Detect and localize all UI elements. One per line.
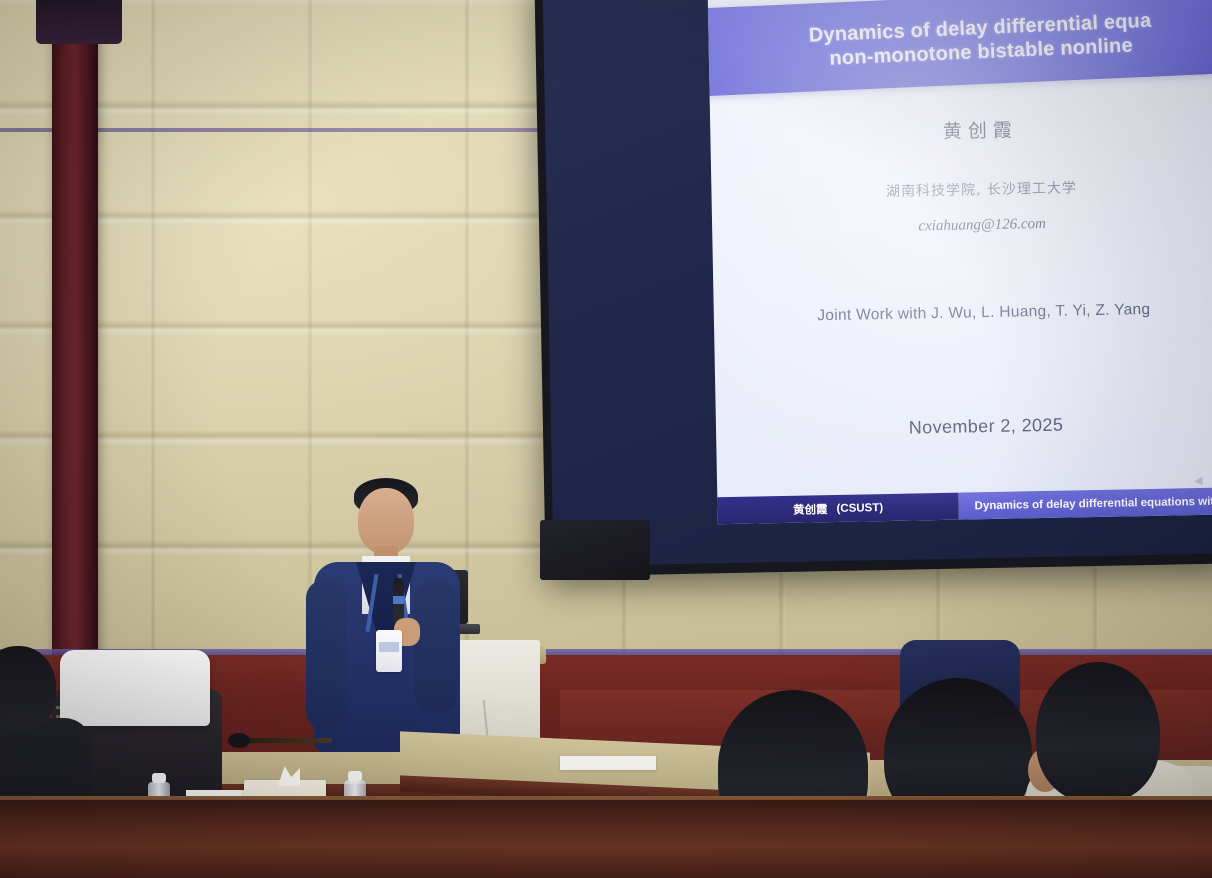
- table-microphone-arm: [236, 738, 332, 743]
- presentation-photo-scene: Dynamics of delay differential equa non-…: [0, 0, 1212, 878]
- presenter-left-arm: [306, 580, 346, 730]
- slide-footer-right: Dynamics of delay differential equations…: [958, 487, 1212, 520]
- slide-footer-bar: 黄创霞 (CSUST) Dynamics of delay differenti…: [717, 487, 1212, 524]
- wall-monitor: [540, 520, 650, 580]
- slide-date: November 2, 2025: [716, 411, 1212, 442]
- prev-slide-icon[interactable]: ◀: [1194, 475, 1203, 486]
- table-paper-1: [560, 756, 656, 770]
- presenter-right-arm: [414, 582, 458, 712]
- slide-footer-left: 黄创霞 (CSUST): [717, 493, 959, 525]
- projector-screen-surface: Dynamics of delay differential equa non-…: [542, 0, 1212, 566]
- footer-institution: (CSUST): [836, 502, 883, 515]
- projector-screen-frame: Dynamics of delay differential equa non-…: [534, 0, 1212, 577]
- footer-author: 黄创霞: [793, 501, 828, 518]
- footer-title: Dynamics of delay differential equations…: [974, 495, 1212, 512]
- slide-affiliation: 湖南科技学院, 长沙理工大学: [711, 174, 1212, 204]
- presenter-head: [358, 488, 414, 554]
- attendee-left-head: [0, 646, 56, 730]
- table-microphone-head: [228, 733, 250, 748]
- slide-joint-work: Joint Work with J. Wu, L. Huang, T. Yi, …: [714, 299, 1212, 327]
- slide-navigation-controls[interactable]: ◀ ▶: [1194, 474, 1212, 487]
- column-mount-bracket: [36, 0, 122, 44]
- presenter-badge-text: [379, 642, 399, 652]
- wooden-column: [52, 0, 98, 700]
- slide-author-name: 黄创霞: [710, 111, 1212, 148]
- projected-slide: Dynamics of delay differential equa non-…: [707, 0, 1212, 524]
- slide-email: cxiahuang@126.com: [712, 212, 1212, 239]
- microphone-band: [393, 596, 404, 604]
- slide-title-banner: Dynamics of delay differential equa non-…: [707, 0, 1212, 96]
- attendee-3-head: [1036, 662, 1160, 802]
- front-table-edge: [0, 800, 1212, 878]
- presenter: [300, 470, 475, 760]
